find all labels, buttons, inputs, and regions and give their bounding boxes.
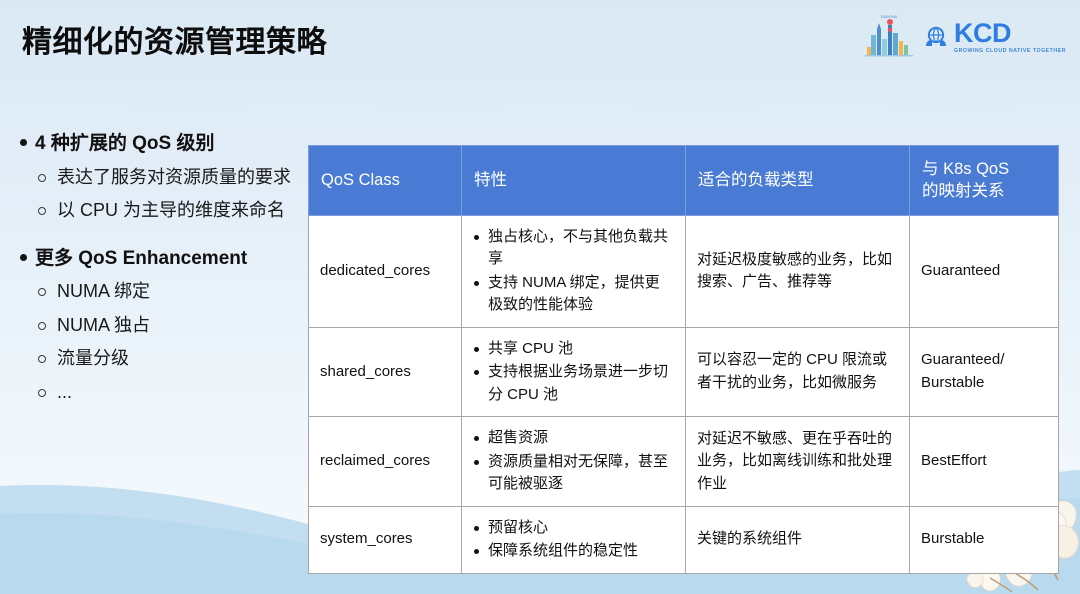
cell-qos-class: reclaimed_cores <box>309 417 462 507</box>
bullet-level2-text: NUMA 独占 <box>57 310 292 342</box>
bullet-level2-text: 流量分级 <box>57 343 292 375</box>
bullet-level1-text: 4 种扩展的 QoS 级别 <box>35 130 214 158</box>
bullet-level2: 流量分级 <box>38 343 292 375</box>
svg-text:SHANGHAI: SHANGHAI <box>881 15 898 19</box>
cell-k8s-mapping-line2: Burstable <box>921 374 984 391</box>
cell-k8s-mapping-line1: Guaranteed/ <box>921 351 1004 368</box>
bullet-group-2: 更多 QoS Enhancement NUMA 绑定 NUMA 独占 流量分级 … <box>20 245 292 409</box>
table-row: shared_cores 共享 CPU 池 支持根据业务场景进一步切分 CPU … <box>309 327 1059 417</box>
shanghai-skyline-icon: SHANGHAI <box>863 11 915 63</box>
bullet-circle-icon <box>38 389 46 397</box>
bullet-level2: ... <box>38 377 292 409</box>
table-header: QoS Class 特性 适合的负载类型 与 K8s QoS 的映射关系 <box>309 146 1059 216</box>
col-header-qos-class: QoS Class <box>309 146 462 216</box>
table-body: dedicated_cores 独占核心，不与其他负载共享 支持 NUMA 绑定… <box>309 215 1059 573</box>
table-row: reclaimed_cores 超售资源 资源质量相对无保障，甚至可能被驱逐 对… <box>309 417 1059 507</box>
cell-k8s-mapping: Guaranteed <box>910 215 1059 327</box>
page-title: 精细化的资源管理策略 <box>22 24 327 62</box>
cell-features: 独占核心，不与其他负载共享 支持 NUMA 绑定，提供更极致的性能体验 <box>462 215 686 327</box>
bullet-level2-text: ... <box>57 377 292 409</box>
feature-list: 独占核心，不与其他负载共享 支持 NUMA 绑定，提供更极致的性能体验 <box>473 226 674 317</box>
feature-item: 预留核心 <box>473 517 674 540</box>
kcd-brand-text: KCD <box>954 20 1011 47</box>
cell-k8s-mapping: Guaranteed/ Burstable <box>910 327 1059 417</box>
feature-item: 共享 CPU 池 <box>473 338 674 361</box>
feature-item: 支持根据业务场景进一步切分 CPU 池 <box>473 361 674 406</box>
cell-workload: 关键的系统组件 <box>686 506 910 573</box>
qos-class-table: QoS Class 特性 适合的负载类型 与 K8s QoS 的映射关系 ded… <box>308 145 1059 574</box>
bullet-level2: 表达了服务对资源质量的要求 <box>38 162 292 194</box>
feature-item: 保障系统组件的稳定性 <box>473 540 674 563</box>
table-header-row: QoS Class 特性 适合的负载类型 与 K8s QoS 的映射关系 <box>309 146 1059 216</box>
bullet-dot-icon <box>20 254 27 261</box>
cell-k8s-mapping: Burstable <box>910 506 1059 573</box>
bullet-circle-icon <box>38 355 46 363</box>
cell-qos-class: shared_cores <box>309 327 462 417</box>
feature-item: 独占核心，不与其他负载共享 <box>473 226 674 271</box>
bullet-level2: 以 CPU 为主导的维度来命名 <box>38 195 292 227</box>
bullet-dot-icon <box>20 139 27 146</box>
kcd-wordmark-group: KCD GROWING CLOUD NATIVE TOGETHER <box>923 20 1066 54</box>
bullet-circle-icon <box>38 322 46 330</box>
col-header-k8s-mapping: 与 K8s QoS 的映射关系 <box>910 146 1059 216</box>
cell-workload: 对延迟极度敏感的业务，比如搜索、广告、推荐等 <box>686 215 910 327</box>
bullet-level1: 更多 QoS Enhancement <box>20 245 292 273</box>
bullet-level1-text: 更多 QoS Enhancement <box>35 245 247 273</box>
bullet-level1: 4 种扩展的 QoS 级别 <box>20 130 292 158</box>
bullet-level2-text: 表达了服务对资源质量的要求 <box>57 162 292 194</box>
col-header-k8s-mapping-line2: 的映射关系 <box>922 182 1005 200</box>
cell-workload: 可以容忍一定的 CPU 限流或者干扰的业务，比如微服务 <box>686 327 910 417</box>
table-row: system_cores 预留核心 保障系统组件的稳定性 关键的系统组件 Bur… <box>309 506 1059 573</box>
bullet-level2: NUMA 绑定 <box>38 276 292 308</box>
col-header-k8s-mapping-line1: 与 K8s QoS <box>922 160 1009 178</box>
cell-qos-class: dedicated_cores <box>309 215 462 327</box>
feature-list: 共享 CPU 池 支持根据业务场景进一步切分 CPU 池 <box>473 338 674 407</box>
col-header-workload: 适合的负载类型 <box>686 146 910 216</box>
bullet-list: 4 种扩展的 QoS 级别 表达了服务对资源质量的要求 以 CPU 为主导的维度… <box>20 130 292 426</box>
feature-item: 支持 NUMA 绑定，提供更极致的性能体验 <box>473 272 674 317</box>
bullet-circle-icon <box>38 207 46 215</box>
bullet-group-1: 4 种扩展的 QoS 级别 表达了服务对资源质量的要求 以 CPU 为主导的维度… <box>20 130 292 227</box>
feature-list: 预留核心 保障系统组件的稳定性 <box>473 517 674 563</box>
cell-features: 共享 CPU 池 支持根据业务场景进一步切分 CPU 池 <box>462 327 686 417</box>
kcd-logo: SHANGHAI KCD GROWING CLOUD NATIVE TOGETH… <box>863 8 1066 66</box>
cell-workload: 对延迟不敏感、更在乎吞吐的业务，比如离线训练和批处理作业 <box>686 417 910 507</box>
cell-k8s-mapping: BestEffort <box>910 417 1059 507</box>
cell-qos-class: system_cores <box>309 506 462 573</box>
bullet-level2: NUMA 独占 <box>38 310 292 342</box>
table-row: dedicated_cores 独占核心，不与其他负载共享 支持 NUMA 绑定… <box>309 215 1059 327</box>
col-header-features: 特性 <box>462 146 686 216</box>
feature-item: 资源质量相对无保障，甚至可能被驱逐 <box>473 451 674 496</box>
bullet-circle-icon <box>38 174 46 182</box>
cell-features: 超售资源 资源质量相对无保障，甚至可能被驱逐 <box>462 417 686 507</box>
feature-item: 超售资源 <box>473 427 674 450</box>
cell-features: 预留核心 保障系统组件的稳定性 <box>462 506 686 573</box>
kcd-hands-globe-icon <box>923 24 949 50</box>
slide-root: 精细化的资源管理策略 SHANGHAI <box>0 0 1080 594</box>
kcd-tagline: GROWING CLOUD NATIVE TOGETHER <box>954 49 1066 54</box>
bullet-level2-text: NUMA 绑定 <box>57 276 292 308</box>
feature-list: 超售资源 资源质量相对无保障，甚至可能被驱逐 <box>473 427 674 496</box>
bullet-level2-text: 以 CPU 为主导的维度来命名 <box>57 195 292 227</box>
bullet-circle-icon <box>38 288 46 296</box>
